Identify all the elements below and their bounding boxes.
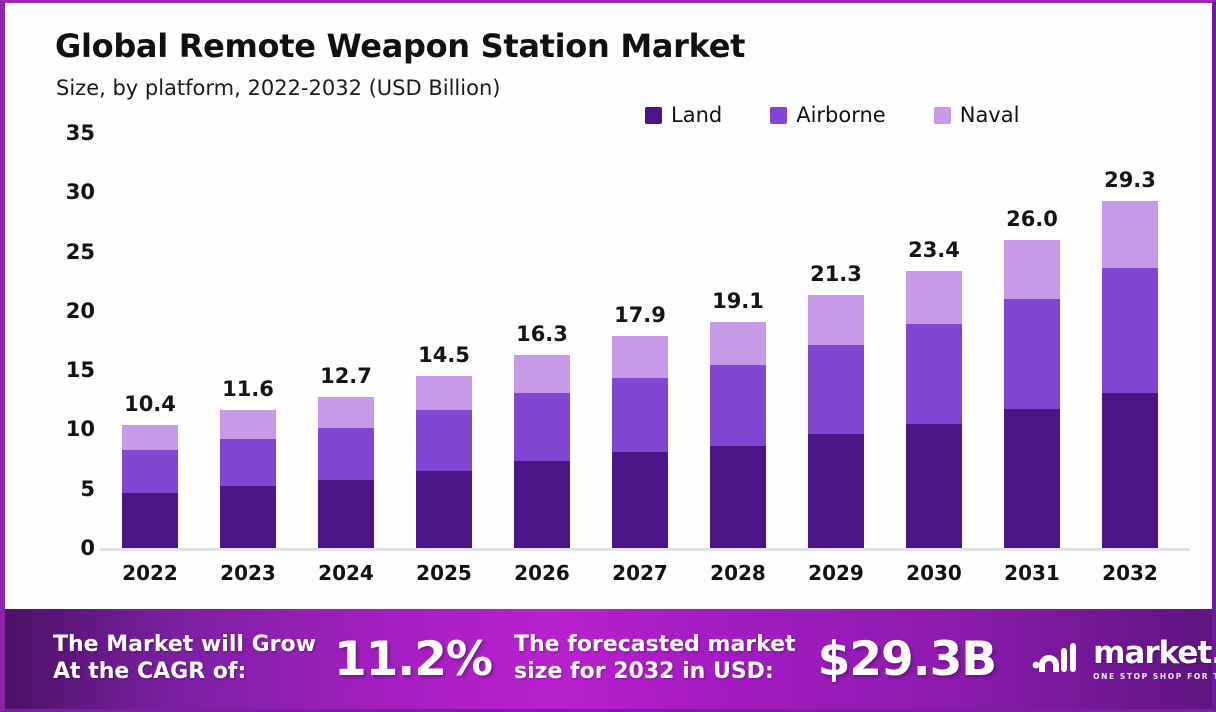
- bar-segment-naval[interactable]: [710, 322, 766, 366]
- forecast-caption: The forecasted market size for 2032 in U…: [514, 632, 796, 686]
- bar-total-label: 14.5: [418, 343, 470, 367]
- bar-total-label: 26.0: [1006, 207, 1058, 231]
- bar-total-label: 17.9: [614, 303, 666, 327]
- x-tick-label: 2023: [193, 561, 303, 585]
- bar-segment-land[interactable]: [1004, 409, 1060, 548]
- x-tick-label: 2030: [879, 561, 989, 585]
- y-tick-label: 25: [15, 240, 95, 264]
- bar-segment-airborne[interactable]: [416, 410, 472, 470]
- forecast-caption-line1: The forecasted market: [514, 632, 796, 659]
- bar-segment-naval[interactable]: [906, 271, 962, 324]
- bar-segment-land[interactable]: [514, 461, 570, 548]
- bar-segment-airborne[interactable]: [906, 324, 962, 424]
- bar-segment-land[interactable]: [808, 434, 864, 548]
- bar-segment-land[interactable]: [416, 471, 472, 548]
- bar-total-label: 23.4: [908, 238, 960, 262]
- bar-group[interactable]: 17.9: [612, 133, 668, 548]
- bar-segment-naval[interactable]: [808, 295, 864, 345]
- bar-group[interactable]: 10.4: [122, 133, 178, 548]
- x-tick-label: 2022: [95, 561, 205, 585]
- brand-tagline: ONE STOP SHOP FOR THE REPORTS: [1093, 673, 1216, 681]
- bar-segment-airborne[interactable]: [122, 450, 178, 494]
- forecast-caption-line2: size for 2032 in USD:: [514, 659, 796, 686]
- brand-logo[interactable]: market.us ONE STOP SHOP FOR THE REPORTS: [1030, 638, 1216, 681]
- bar-segment-naval[interactable]: [318, 397, 374, 428]
- bar-segment-airborne[interactable]: [1102, 268, 1158, 393]
- cagr-caption-line2: At the CAGR of:: [53, 659, 316, 686]
- bar-segment-land[interactable]: [710, 446, 766, 548]
- bar-segment-naval[interactable]: [1102, 201, 1158, 269]
- y-axis-labels: 05101520253035: [5, 3, 95, 603]
- bar-total-label: 10.4: [124, 392, 176, 416]
- x-tick-label: 2024: [291, 561, 401, 585]
- x-tick-label: 2031: [977, 561, 1087, 585]
- bar-total-label: 11.6: [222, 377, 274, 401]
- y-tick-label: 0: [15, 536, 95, 560]
- bar-segment-naval[interactable]: [220, 410, 276, 438]
- bar-segment-land[interactable]: [122, 493, 178, 548]
- x-tick-label: 2029: [781, 561, 891, 585]
- y-tick-label: 30: [15, 180, 95, 204]
- footer-banner: The Market will Grow At the CAGR of: 11.…: [5, 609, 1212, 709]
- bar-group[interactable]: 21.3: [808, 133, 864, 548]
- bar-segment-land[interactable]: [1102, 393, 1158, 548]
- bar-group[interactable]: 14.5: [416, 133, 472, 548]
- bar-segment-airborne[interactable]: [514, 393, 570, 462]
- bar-total-label: 16.3: [516, 322, 568, 346]
- bar-group[interactable]: 23.4: [906, 133, 962, 548]
- cagr-value: 11.2%: [334, 632, 492, 687]
- bar-segment-naval[interactable]: [514, 355, 570, 393]
- bar-segment-airborne[interactable]: [612, 378, 668, 452]
- x-tick-label: 2027: [585, 561, 695, 585]
- y-tick-label: 35: [15, 121, 95, 145]
- bar-group[interactable]: 29.3: [1102, 133, 1158, 548]
- bar-group[interactable]: 12.7: [318, 133, 374, 548]
- x-axis-line: [100, 548, 1190, 551]
- bar-segment-airborne[interactable]: [318, 428, 374, 480]
- x-tick-label: 2032: [1075, 561, 1185, 585]
- market-us-logo-icon: [1030, 640, 1082, 678]
- bar-series-container: 10.411.612.714.516.317.919.121.323.426.0…: [100, 133, 1190, 548]
- bar-segment-land[interactable]: [612, 452, 668, 548]
- bar-segment-airborne[interactable]: [808, 345, 864, 434]
- cagr-caption-line1: The Market will Grow: [53, 632, 316, 659]
- bar-segment-naval[interactable]: [1004, 240, 1060, 299]
- bar-group[interactable]: 16.3: [514, 133, 570, 548]
- bar-segment-naval[interactable]: [612, 336, 668, 379]
- plot-area: 05101520253035 10.411.612.714.516.317.91…: [5, 3, 1212, 603]
- forecast-value: $29.3B: [818, 632, 997, 687]
- chart-card: Global Remote Weapon Station Market Size…: [5, 3, 1212, 603]
- y-tick-label: 5: [15, 477, 95, 501]
- bar-total-label: 21.3: [810, 262, 862, 286]
- bar-group[interactable]: 11.6: [220, 133, 276, 548]
- bar-segment-naval[interactable]: [416, 376, 472, 410]
- bar-segment-airborne[interactable]: [220, 439, 276, 486]
- bar-segment-land[interactable]: [318, 480, 374, 548]
- bar-total-label: 12.7: [320, 364, 372, 388]
- cagr-caption: The Market will Grow At the CAGR of:: [53, 632, 316, 686]
- y-tick-label: 20: [15, 299, 95, 323]
- bar-segment-airborne[interactable]: [710, 365, 766, 446]
- y-tick-label: 10: [15, 417, 95, 441]
- bar-segment-naval[interactable]: [122, 425, 178, 450]
- infographic-root: Global Remote Weapon Station Market Size…: [0, 0, 1216, 712]
- y-tick-label: 15: [15, 358, 95, 382]
- x-tick-label: 2025: [389, 561, 499, 585]
- bar-segment-land[interactable]: [220, 486, 276, 548]
- bar-segment-land[interactable]: [906, 424, 962, 549]
- bar-group[interactable]: 26.0: [1004, 133, 1060, 548]
- x-tick-label: 2028: [683, 561, 793, 585]
- x-tick-label: 2026: [487, 561, 597, 585]
- bar-segment-airborne[interactable]: [1004, 299, 1060, 409]
- bar-total-label: 19.1: [712, 289, 764, 313]
- brand-name: market.us: [1093, 638, 1216, 669]
- bar-group[interactable]: 19.1: [710, 133, 766, 548]
- bar-total-label: 29.3: [1104, 168, 1156, 192]
